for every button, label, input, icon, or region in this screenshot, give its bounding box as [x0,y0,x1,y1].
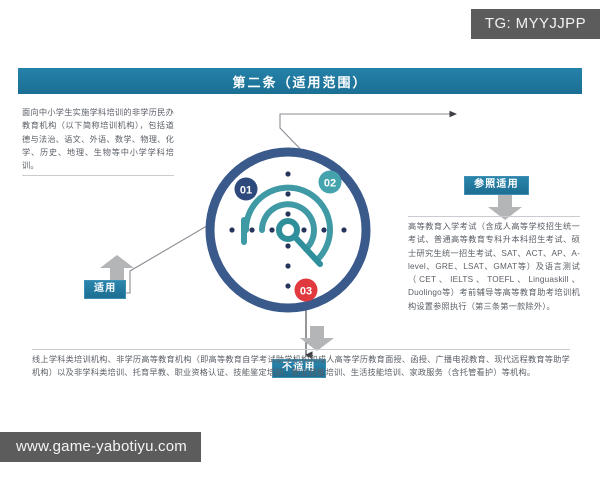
divider-rule [22,175,174,176]
radar-diagram: 01 02 03 [200,142,376,318]
divider-rule [408,216,580,217]
pill-reference-applicable[interactable]: 参照适用 [464,176,529,195]
pill-applicable[interactable]: 适用 [84,280,126,299]
text-block-left: 面向中小学生实施学科培训的非学历民办教育机构（以下简称培训机构），包括道德与法治… [22,106,174,176]
infographic-card: 第二条（适用范围） [18,68,582,398]
marker-02-group: 02 [319,171,342,194]
text-block-left-body: 面向中小学生实施学科培训的非学历民办教育机构（以下简称培训机构），包括道德与法治… [22,106,174,172]
marker-02-label: 02 [324,178,336,190]
text-block-bottom: 线上学科类培训机构、非学历高等教育机构（即高等教育自学考试助学机构和成人高等学历… [32,349,570,380]
text-block-right: 高等教育入学考试（含成人高等学校招生统一考试、普通高等教育专科升本科招生考试、硕… [408,216,580,313]
site-watermark: www.game-yabotiyu.com [0,432,201,462]
arrow-shaft [110,267,124,281]
card-title: 第二条（适用范围） [18,68,582,94]
text-block-bottom-body: 线上学科类培训机构、非学历高等教育机构（即高等教育自学考试助学机构和成人高等学历… [32,353,570,380]
marker-03-group: 03 [295,279,318,302]
marker-03-label: 03 [300,286,312,298]
text-block-right-body: 高等教育入学考试（含成人高等学校招生统一考试、普通高等教育专科升本科招生考试、硕… [408,220,580,313]
marker-01-label: 01 [240,185,252,197]
marker-01-group: 01 [235,178,258,201]
divider-rule [32,349,570,350]
tg-watermark-badge: TG: MYYJJPP [471,9,600,39]
up-arrow-left [100,255,134,281]
down-arrow-center [300,326,334,350]
